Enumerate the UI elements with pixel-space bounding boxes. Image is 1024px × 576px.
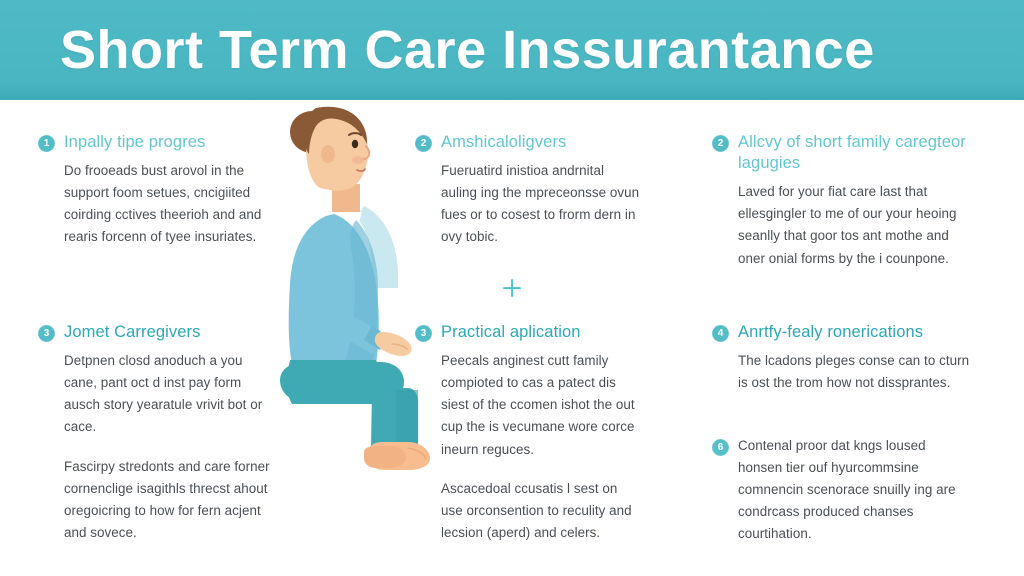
infographic-poster: Short Term Care Inssurantance 1 Inpally …	[0, 0, 1024, 576]
list-item: 4 Anrtfy-fealy ronerications The lcadons…	[712, 322, 972, 394]
list-item: 3 Jomet Carregivers Detpnen closd anoduc…	[38, 322, 278, 544]
item-heading-row: 1 Inpally tipe progres	[38, 132, 278, 153]
step-number-badge: 1	[38, 135, 55, 152]
page-title: Short Term Care Inssurantance	[0, 23, 875, 77]
list-item: 1 Inpally tipe progres Do frooeads bust …	[38, 132, 278, 249]
item-heading: Anrtfy-fealy ronerications	[738, 322, 923, 343]
header-banner: Short Term Care Inssurantance	[0, 0, 1024, 100]
item-heading: Amshicaloligvers	[441, 132, 566, 153]
item-heading-row: 3 Practical aplication	[415, 322, 641, 343]
item-heading-row: 4 Anrtfy-fealy ronerications	[712, 322, 972, 343]
item-paragraph: Laved for your fiat care last that elles…	[712, 181, 972, 269]
step-number-badge: 6	[712, 439, 729, 456]
item-heading-row: 2 Amshicaloligvers	[415, 132, 641, 153]
item-paragraph: Peecals anginest cutt family compioted t…	[415, 350, 641, 461]
item-heading: Allcvy of short family caregteor lagugie…	[738, 132, 972, 174]
item-paragraph: Fascirpy stredonts and care forner corne…	[38, 456, 278, 544]
plus-icon	[503, 279, 521, 297]
item-paragraph: Detpnen closd anoduch a you cane, pant o…	[38, 350, 278, 438]
item-paragraph: The lcadons pleges conse can to cturn is…	[712, 350, 972, 394]
item-heading: Jomet Carregivers	[64, 322, 201, 343]
content-area: 1 Inpally tipe progres Do frooeads bust …	[0, 100, 1024, 576]
item-paragraph: Ascacedoal ccusatis l sest on use orcons…	[415, 478, 641, 544]
item-heading-row: 2 Allcvy of short family caregteor lagug…	[712, 132, 972, 174]
list-item: 6 Contenal proor dat kngs loused honsen …	[712, 435, 972, 546]
step-number-badge: 4	[712, 325, 729, 342]
step-number-badge: 2	[712, 135, 729, 152]
item-heading-row: 3 Jomet Carregivers	[38, 322, 278, 343]
item-paragraph: Contenal proor dat kngs loused honsen ti…	[738, 435, 972, 546]
item-paragraph: Fueruatird inistioa andrnital auling ing…	[415, 160, 641, 248]
list-item: 2 Allcvy of short family caregteor lagug…	[712, 132, 972, 270]
list-item: 3 Practical aplication Peecals anginest …	[415, 322, 641, 544]
item-heading: Practical aplication	[441, 322, 581, 343]
seated-woman-illustration	[268, 88, 443, 476]
item-paragraph: Do frooeads bust arovol in the support f…	[38, 160, 278, 248]
step-number-badge: 3	[38, 325, 55, 342]
item-heading: Inpally tipe progres	[64, 132, 205, 153]
list-item: 2 Amshicaloligvers Fueruatird inistioa a…	[415, 132, 641, 249]
